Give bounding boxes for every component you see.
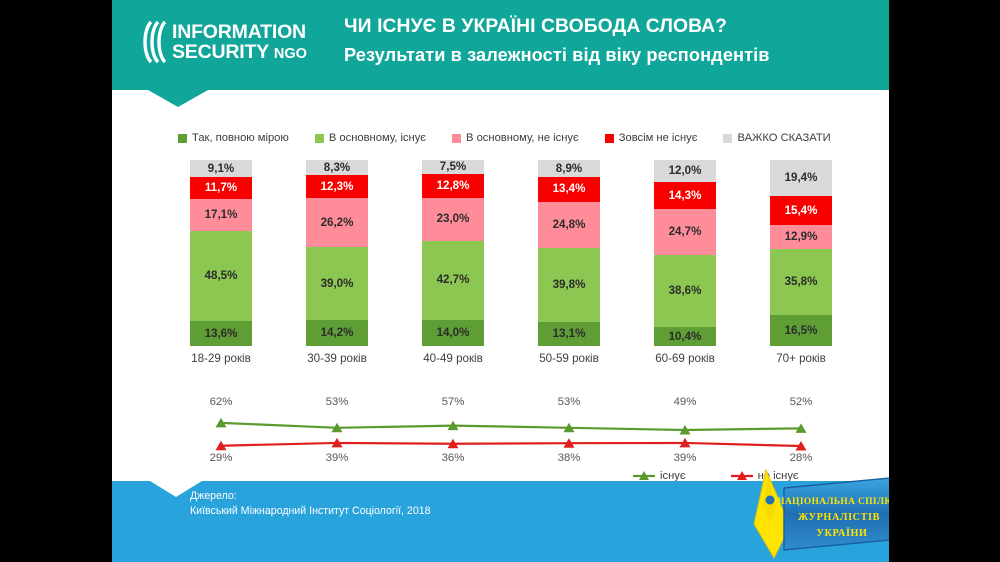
emblem-line-2: ЖУРНАЛІСТІВ xyxy=(798,512,880,523)
bar-segment[interactable]: 7,5% xyxy=(422,160,484,174)
slide-stage: INFORMATION SECURITY NGO ЧИ ІСНУЄ В УКРА… xyxy=(0,0,1000,562)
bar-segment[interactable]: 16,5% xyxy=(770,315,832,346)
legend-label: ВАЖКО СКАЗАТИ xyxy=(737,132,830,144)
legend-label: Зовсім не існує xyxy=(619,132,698,144)
page-subtitle: Результати в залежності від віку респонд… xyxy=(344,43,884,68)
x-axis-label: 40-49 років xyxy=(398,352,508,365)
line-point-label: 53% xyxy=(326,396,349,408)
bar-segment[interactable]: 9,1% xyxy=(190,160,252,177)
bar-segment[interactable]: 14,3% xyxy=(654,182,716,209)
logo-line-2: SECURITY xyxy=(172,41,269,63)
line-chart: 62%53%57%53%49%52%29%39%36%38%39%28% xyxy=(172,396,872,468)
bar-segment[interactable]: 19,4% xyxy=(770,160,832,196)
x-axis-label: 30-39 років xyxy=(282,352,392,365)
line-point-label: 39% xyxy=(674,452,697,464)
bar-segment[interactable]: 42,7% xyxy=(422,241,484,320)
line-point-label: 49% xyxy=(674,396,697,408)
header-notch-triangle xyxy=(148,90,208,107)
x-axis-label: 70+ років xyxy=(746,352,856,365)
national-union-journalists-ukraine-emblem: НАЦІОНАЛЬНА СПІЛКА ЖУРНАЛІСТІВ УКРАЇНИ xyxy=(744,466,889,562)
line-chart-plot xyxy=(172,396,872,468)
bar-segment[interactable]: 35,8% xyxy=(770,249,832,316)
legend-label: В основному, існує xyxy=(329,132,426,144)
header-title-group: ЧИ ІСНУЄ В УКРАЇНІ СВОБОДА СЛОВА? Резуль… xyxy=(344,14,884,68)
bar-segment[interactable]: 24,8% xyxy=(538,202,600,248)
bar-segment[interactable]: 26,2% xyxy=(306,198,368,247)
line-point-label: 53% xyxy=(558,396,581,408)
information-security-ngo-logo: INFORMATION SECURITY NGO xyxy=(140,16,352,68)
legend-item-3[interactable]: Зовсім не існує xyxy=(605,132,698,144)
bar-segment[interactable]: 13,4% xyxy=(538,177,600,202)
bar-segment[interactable]: 13,6% xyxy=(190,321,252,346)
bar-column[interactable]: 7,5%12,8%23,0%42,7%14,0% xyxy=(422,160,484,346)
line-point-label: 38% xyxy=(558,452,581,464)
legend-label: Так, повною мірою xyxy=(192,132,289,144)
legend-swatch-icon xyxy=(178,134,187,143)
legend-label: В основному, не існує xyxy=(466,132,579,144)
bar-column[interactable]: 8,3%12,3%26,2%39,0%14,2% xyxy=(306,160,368,346)
bar-segment[interactable]: 14,2% xyxy=(306,320,368,346)
bar-segment[interactable]: 13,1% xyxy=(538,322,600,346)
line-point-label: 36% xyxy=(442,452,465,464)
x-axis-label: 60-69 років xyxy=(630,352,740,365)
bar-segment[interactable]: 8,3% xyxy=(306,160,368,175)
bar-segment[interactable]: 12,9% xyxy=(770,225,832,249)
page-title: ЧИ ІСНУЄ В УКРАЇНІ СВОБОДА СЛОВА? xyxy=(344,14,884,40)
legend-swatch-icon xyxy=(452,134,461,143)
line-point-label: 39% xyxy=(326,452,349,464)
bar-segment[interactable]: 14,0% xyxy=(422,320,484,346)
legend-item-0[interactable]: Так, повною мірою xyxy=(178,132,289,144)
legend-item-1[interactable]: В основному, існує xyxy=(315,132,426,144)
logo-ngo-suffix: NGO xyxy=(274,46,307,62)
bar-segment[interactable]: 12,0% xyxy=(654,160,716,182)
emblem-line-1: НАЦІОНАЛЬНА СПІЛКА xyxy=(777,497,889,507)
source-note: Джерело: Київський Міжнародний Інститут … xyxy=(190,489,431,520)
bar-segment[interactable]: 24,7% xyxy=(654,209,716,255)
bar-chart-legend: Так, повною міроюВ основному, існуєВ осн… xyxy=(178,130,878,146)
legend-item-4[interactable]: ВАЖКО СКАЗАТИ xyxy=(723,132,830,144)
x-axis-label: 50-59 років xyxy=(514,352,624,365)
line-point-label: 52% xyxy=(790,396,813,408)
bar-segment[interactable]: 48,5% xyxy=(190,231,252,321)
legend-item-2[interactable]: В основному, не існує xyxy=(452,132,579,144)
logo-line-1: INFORMATION xyxy=(172,22,307,42)
line-series[interactable] xyxy=(221,443,801,446)
source-value: Київський Міжнародний Інститут Соціологі… xyxy=(190,504,431,519)
bar-segment[interactable]: 12,3% xyxy=(306,175,368,198)
bar-segment[interactable]: 17,1% xyxy=(190,199,252,231)
bar-chart-x-axis-labels: 18-29 років30-39 років40-49 років50-59 р… xyxy=(172,352,872,368)
line-point-label: 28% xyxy=(790,452,813,464)
slide-header: INFORMATION SECURITY NGO ЧИ ІСНУЄ В УКРА… xyxy=(112,0,889,90)
legend-swatch-icon xyxy=(315,134,324,143)
legend-swatch-icon xyxy=(723,134,732,143)
triple-bracket-icon xyxy=(140,20,166,64)
bar-column[interactable]: 9,1%11,7%17,1%48,5%13,6% xyxy=(190,160,252,346)
bar-column[interactable]: 8,9%13,4%24,8%39,8%13,1% xyxy=(538,160,600,346)
bar-segment[interactable]: 38,6% xyxy=(654,255,716,327)
slide-canvas: INFORMATION SECURITY NGO ЧИ ІСНУЄ В УКРА… xyxy=(112,0,889,562)
bar-segment[interactable]: 12,8% xyxy=(422,174,484,198)
bar-column[interactable]: 12,0%14,3%24,7%38,6%10,4% xyxy=(654,160,716,346)
bar-column[interactable]: 19,4%15,4%12,9%35,8%16,5% xyxy=(770,160,832,346)
line-point-label: 62% xyxy=(210,396,233,408)
line-series[interactable] xyxy=(221,423,801,430)
bar-segment[interactable]: 39,0% xyxy=(306,247,368,320)
x-axis-label: 18-29 років xyxy=(166,352,276,365)
line-point-label: 57% xyxy=(442,396,465,408)
bar-segment[interactable]: 23,0% xyxy=(422,198,484,241)
bar-segment[interactable]: 11,7% xyxy=(190,177,252,199)
stacked-bar-chart: 9,1%11,7%17,1%48,5%13,6%8,3%12,3%26,2%39… xyxy=(172,160,872,346)
bar-segment[interactable]: 8,9% xyxy=(538,160,600,177)
bar-segment[interactable]: 39,8% xyxy=(538,248,600,322)
line-point-label: 29% xyxy=(210,452,233,464)
emblem-line-3: УКРАЇНИ xyxy=(816,526,867,539)
bar-segment[interactable]: 10,4% xyxy=(654,327,716,346)
legend-swatch-icon xyxy=(605,134,614,143)
source-label: Джерело: xyxy=(190,489,431,504)
bar-segment[interactable]: 15,4% xyxy=(770,196,832,225)
